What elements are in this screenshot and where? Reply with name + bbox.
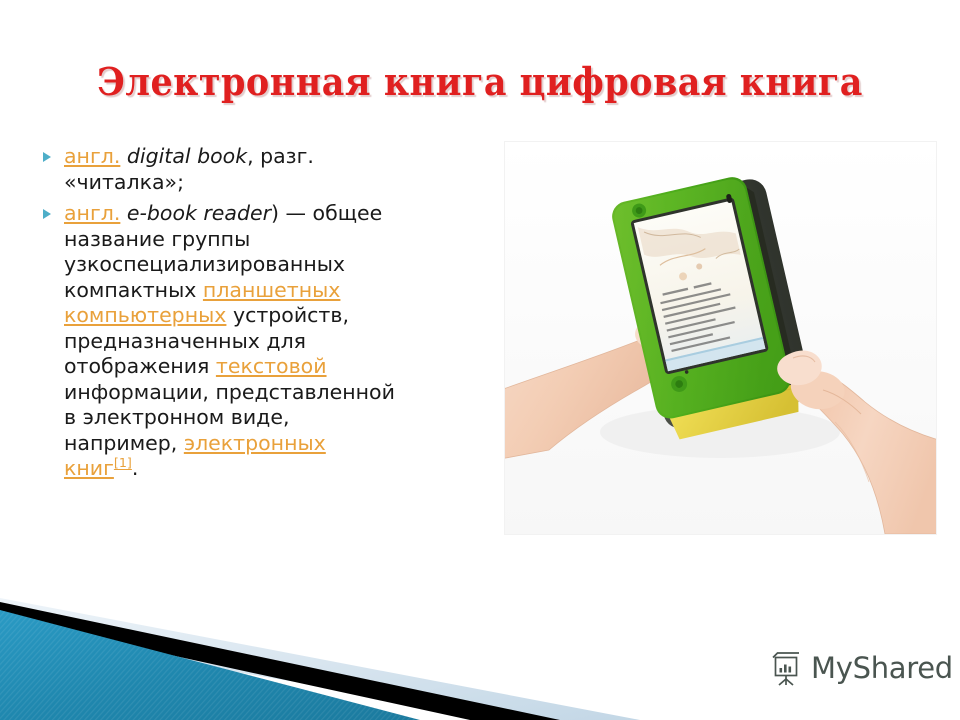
myshared-logo-text: MyShared <box>811 653 953 683</box>
ebook-reader-photo <box>505 142 936 534</box>
decorative-diagonal-bands <box>0 580 640 720</box>
slide-canvas: Электронная книга цифровая книга англ. d… <box>0 0 960 720</box>
term-digital-book: digital book <box>120 144 247 168</box>
list-item: англ. digital book, разг. «читалка»; <box>36 144 396 195</box>
ebook-reader-illustration <box>505 142 936 534</box>
link-angl-2[interactable]: англ. <box>64 201 120 225</box>
myshared-logo[interactable]: MyShared <box>770 650 953 686</box>
link-text-information[interactable]: текстовой <box>216 354 327 378</box>
presentation-chart-icon <box>770 650 804 686</box>
bullet-triangle-icon <box>43 209 51 219</box>
list-item: англ. e-book reader) — общее название гр… <box>36 201 396 482</box>
content-text-block: англ. digital book, разг. «читалка»; анг… <box>36 144 396 488</box>
term-ebook-reader: e-book reader <box>120 201 271 225</box>
bullet-triangle-icon <box>43 152 51 162</box>
page-title: Электронная книга цифровая книга <box>38 58 921 106</box>
link-angl-1[interactable]: англ. <box>64 144 120 168</box>
reference-superscript-1[interactable]: [1] <box>114 455 132 470</box>
bullet-2-period: . <box>132 456 139 480</box>
